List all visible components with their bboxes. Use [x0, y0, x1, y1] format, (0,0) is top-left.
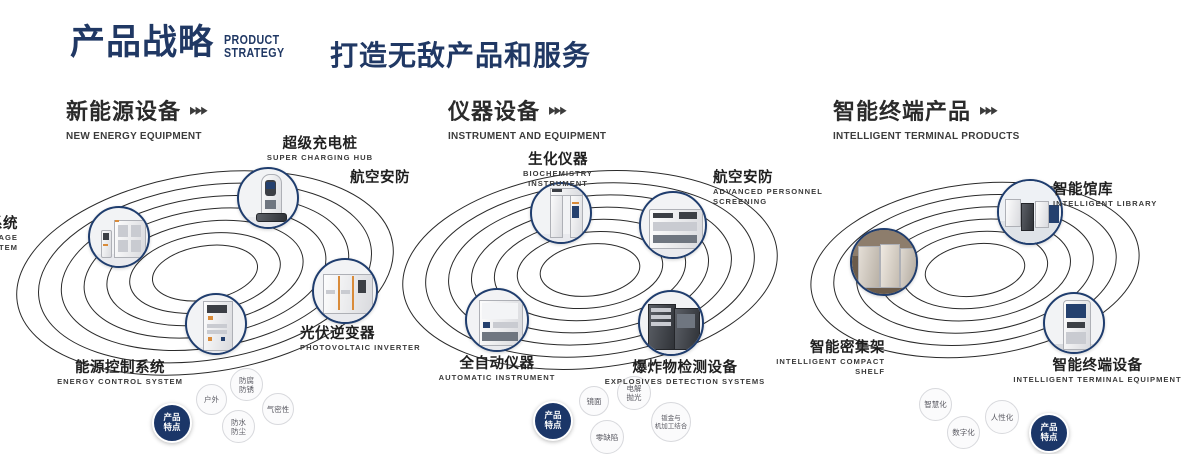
section-title-en: INSTRUMENT AND EQUIPMENT — [448, 130, 606, 142]
core-bubble[interactable]: 产品特点 — [1029, 413, 1069, 453]
feature-bubble[interactable]: 防水防尘 — [222, 410, 255, 443]
feature-bubble[interactable]: 钣金与机加工结合 — [651, 402, 691, 442]
feature-bubble[interactable]: 智慧化 — [919, 388, 952, 421]
node-explosives-detection[interactable] — [638, 290, 704, 356]
core-line2: 特点 — [163, 423, 180, 433]
section-header-intelligent-terminal: 智能终端产品 ▸▸▸ INTELLIGENT TERMINAL PRODUCTS — [833, 94, 1029, 142]
photo-energy-storage-cabinet — [90, 208, 148, 266]
photo-automatic-analyzer — [467, 290, 527, 350]
page-title: 产品战略 PRODUCT STRATEGY — [70, 26, 298, 61]
label-biochemistry-instrument: 生化仪器 BIOCHEMISTRY INSTRUMENT — [493, 152, 623, 189]
feature-bubble[interactable]: 数字化 — [947, 416, 980, 449]
section-title-cn: 智能终端产品 — [833, 94, 971, 126]
label-intelligent-compact-shelf: 智能密集架 INTELLIGENT COMPACT SHELF — [735, 340, 885, 377]
chevrons-icon: ▸▸▸ — [980, 100, 997, 120]
feature-bubble[interactable]: 户外 — [196, 384, 227, 415]
label-super-charging-hub: 超级充电桩 SUPER CHARGING HUB — [250, 136, 390, 163]
photo-detection-rack — [640, 292, 702, 354]
node-biochemistry-instrument[interactable] — [530, 182, 592, 244]
section-title-en: NEW ENERGY EQUIPMENT — [66, 130, 202, 142]
photo-library-interior — [999, 181, 1061, 243]
feature-bubble[interactable]: 零缺陷 — [590, 420, 624, 454]
core-bubble[interactable]: 产品特点 — [152, 403, 192, 443]
core-bubble[interactable]: 产品特点 — [533, 401, 573, 441]
section-title-cn: 新能源设备 — [66, 94, 181, 126]
section-title-en: INTELLIGENT TERMINAL PRODUCTS — [833, 130, 1020, 142]
section-header-new-energy: 新能源设备 ▸▸▸ NEW ENERGY EQUIPMENT — [66, 94, 209, 142]
photo-compact-shelf-room — [852, 230, 916, 294]
node-advanced-personnel-screening[interactable] — [639, 191, 707, 259]
section-title-cn: 仪器设备 — [448, 94, 540, 126]
feature-bubble[interactable]: 人性化 — [985, 400, 1019, 434]
node-intelligent-terminal-equipment[interactable] — [1043, 292, 1105, 354]
label-intelligent-library: 智能馆库 INTELLIGENT LIBRARY — [1053, 182, 1200, 209]
cluster-intelligent-terminal: 智慧化 数字化 人性化 产品特点 智能馆库 INTELLIGENT LIBRAR… — [795, 148, 1195, 398]
page-title-en: PRODUCT STRATEGY — [224, 33, 285, 59]
node-automatic-instrument[interactable] — [465, 288, 529, 352]
photo-control-cabinet — [187, 295, 245, 353]
section-header-instrument: 仪器设备 ▸▸▸ INSTRUMENT AND EQUIPMENT — [448, 94, 615, 142]
page-title-en-line2: STRATEGY — [224, 46, 285, 59]
node-energy-control-system[interactable] — [185, 293, 247, 355]
product-strategy-infographic: 产品战略 PRODUCT STRATEGY 打造无敌产品和服务 新能源设备 ▸▸… — [0, 0, 1200, 422]
node-super-charging-hub[interactable] — [237, 167, 299, 229]
label-automatic-instrument: 全自动仪器 AUTOMATIC INSTRUMENT — [417, 356, 577, 383]
photo-security-gate — [532, 184, 590, 242]
node-intelligent-compact-shelf[interactable] — [850, 228, 918, 296]
node-energy-storage[interactable] — [88, 206, 150, 268]
label-energy-storage: 储能系统 ENERGY STORAGE SYSTEM — [0, 216, 18, 253]
label-aviation-security-left: 航空安防 — [315, 170, 410, 187]
feature-bubble[interactable]: 防腐防锈 — [230, 368, 263, 401]
chevrons-icon: ▸▸▸ — [190, 100, 207, 120]
page-subtitle: 打造无敌产品和服务 — [330, 34, 591, 74]
photo-self-service-kiosk — [1045, 294, 1103, 352]
photo-charging-pile — [239, 169, 297, 227]
page-title-cn: 产品战略 — [70, 26, 214, 61]
node-photovoltaic-inverter[interactable] — [312, 258, 378, 324]
label-energy-control-system: 能源控制系统 ENERGY CONTROL SYSTEM — [20, 360, 220, 387]
chevrons-icon: ▸▸▸ — [549, 100, 566, 120]
feature-bubble[interactable]: 镜面 — [579, 386, 609, 416]
feature-bubble[interactable]: 气密性 — [262, 393, 294, 425]
photo-inverter-cabinet — [314, 260, 376, 322]
photo-screening-machine — [641, 193, 705, 257]
label-intelligent-terminal-equipment: 智能终端设备 INTELLIGENT TERMINAL EQUIPMENT — [995, 358, 1200, 385]
